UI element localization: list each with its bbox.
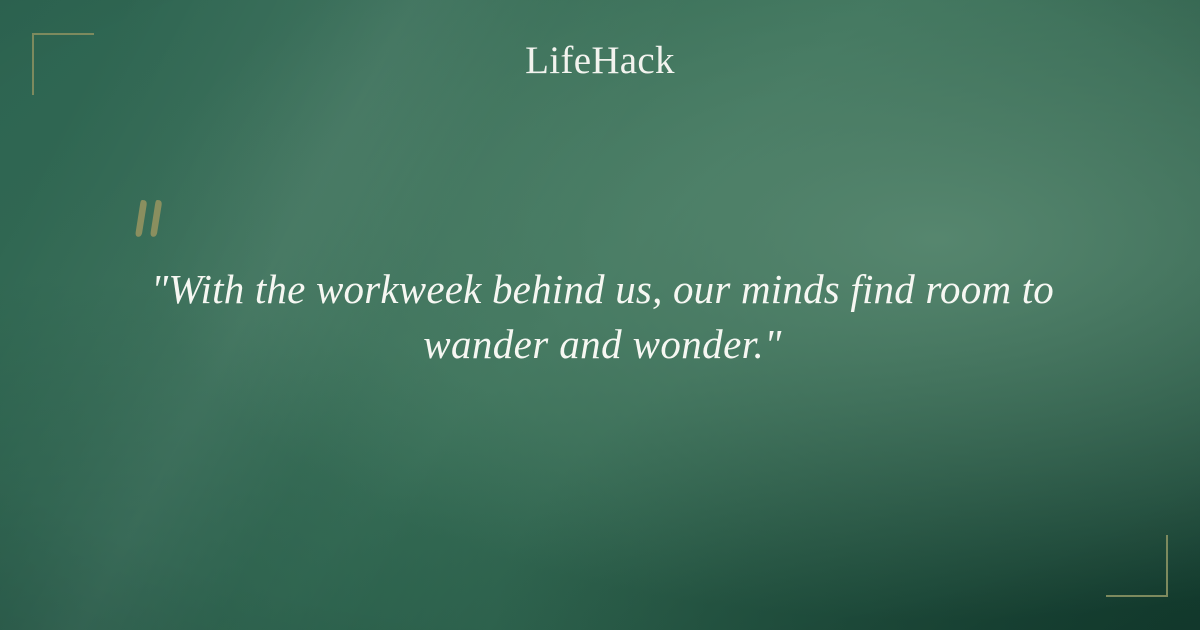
double-quote-mark-icon [133, 198, 179, 248]
quote-line: "With the workweek behind us, our minds … [120, 262, 1085, 317]
brand-logo: LifeHack [0, 38, 1200, 83]
quote-text: "With the workweek behind us, our minds … [120, 262, 1085, 372]
quote-card: LifeHack "With the workweek behind us, o… [0, 0, 1200, 630]
corner-bracket-bottom-right-icon [1106, 535, 1168, 597]
quote-line: wander and wonder." [120, 317, 1085, 372]
